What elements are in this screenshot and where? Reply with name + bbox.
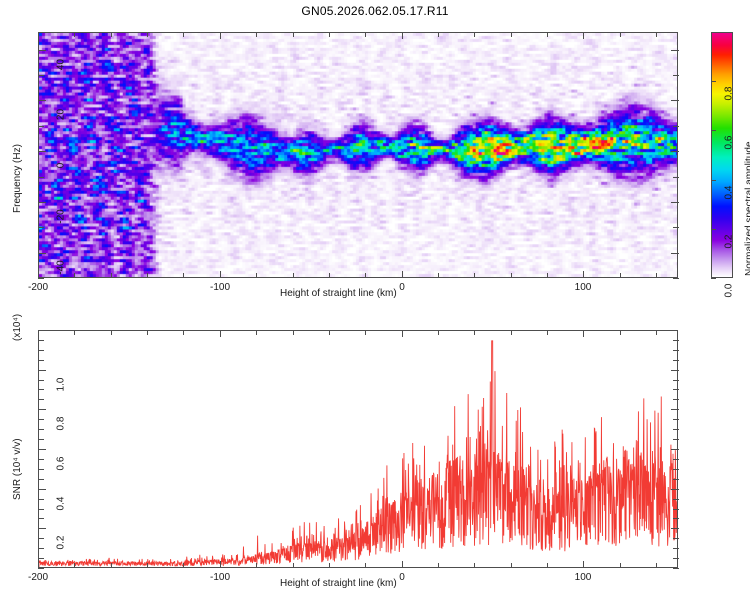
spectrogram-y-major-tick xyxy=(671,253,679,254)
spectrogram-x-minor-tick xyxy=(620,32,621,37)
spectrogram-x-minor-tick xyxy=(111,273,112,278)
snr-x-minor-tick xyxy=(74,563,75,568)
spectrogram-y-major-tick xyxy=(38,50,46,51)
snr-x-minor-tick xyxy=(147,563,148,568)
spectrogram-x-minor-tick xyxy=(474,273,475,278)
snr-x-minor-tick xyxy=(365,330,366,335)
snr-y-axis-label: SNR (10⁴ v/v) xyxy=(12,438,23,500)
snr-y-minor-tick xyxy=(38,538,44,539)
snr-y-major-tick xyxy=(671,370,679,371)
snr-y-minor-tick xyxy=(38,350,44,351)
snr-y-minor-tick xyxy=(38,419,44,420)
snr-y-major-tick xyxy=(671,528,679,529)
spectrogram-x-major-tick xyxy=(220,32,221,39)
snr-x-major-tick xyxy=(583,561,584,568)
colorbar-tick xyxy=(711,229,716,230)
snr-y-minor-tick xyxy=(673,340,679,341)
snr-x-minor-tick xyxy=(111,563,112,568)
spectrogram-y-major-tick xyxy=(38,202,46,203)
spectrogram-x-minor-tick xyxy=(74,273,75,278)
snr-y-minor-tick xyxy=(673,469,679,470)
snr-x-minor-tick xyxy=(74,330,75,335)
snr-y-minor-tick xyxy=(673,350,679,351)
snr-y-minor-tick xyxy=(38,518,44,519)
snr-x-minor-tick xyxy=(511,563,512,568)
spectrogram-image xyxy=(39,33,677,277)
snr-y-major-tick xyxy=(38,449,46,450)
snr-y-minor-tick xyxy=(673,419,679,420)
snr-y-tick-label: 1.0 xyxy=(56,370,67,400)
spectrogram-y-major-tick xyxy=(38,151,46,152)
spectrogram-x-minor-tick xyxy=(256,32,257,37)
snr-y-minor-tick xyxy=(38,558,44,559)
spectrogram-x-minor-tick xyxy=(511,273,512,278)
snr-y-minor-tick xyxy=(673,568,679,569)
spectrogram-x-minor-tick xyxy=(656,32,657,37)
spectrogram-x-major-tick xyxy=(402,271,403,278)
spectrogram-x-minor-tick xyxy=(656,273,657,278)
snr-x-minor-tick xyxy=(329,330,330,335)
snr-y-tick-label: 0.6 xyxy=(56,449,67,479)
spectrogram-y-minor-tick xyxy=(673,177,679,178)
snr-x-minor-tick xyxy=(547,330,548,335)
snr-x-minor-tick xyxy=(256,563,257,568)
spectrogram-x-minor-tick xyxy=(329,273,330,278)
spectrogram-x-minor-tick xyxy=(547,32,548,37)
snr-y-minor-tick xyxy=(38,479,44,480)
spectrogram-x-axis-label: Height of straight line (km) xyxy=(280,288,397,299)
snr-x-tick-label: 0 xyxy=(382,572,422,583)
snr-y-minor-tick xyxy=(38,469,44,470)
snr-y-minor-tick xyxy=(38,340,44,341)
snr-x-minor-tick xyxy=(656,563,657,568)
snr-x-major-tick xyxy=(220,561,221,568)
colorbar-tick-label: 0.2 xyxy=(724,229,735,255)
snr-y-minor-tick xyxy=(38,399,44,400)
snr-x-minor-tick xyxy=(365,563,366,568)
snr-y-minor-tick xyxy=(673,509,679,510)
spectrogram-x-tick-label: 0 xyxy=(382,282,422,293)
snr-trace xyxy=(39,331,677,567)
snr-x-minor-tick xyxy=(256,330,257,335)
colorbar-tick-label: 0.8 xyxy=(724,81,735,107)
snr-x-minor-tick xyxy=(329,563,330,568)
spectrogram-y-minor-tick xyxy=(38,278,44,279)
colorbar-tick xyxy=(711,81,716,82)
snr-y-minor-tick xyxy=(673,429,679,430)
snr-y-minor-tick xyxy=(38,548,44,549)
spectrogram-x-minor-tick xyxy=(183,273,184,278)
snr-x-axis-label: Height of straight line (km) xyxy=(280,578,397,589)
snr-y-minor-tick xyxy=(673,558,679,559)
snr-y-minor-tick xyxy=(38,380,44,381)
snr-x-minor-tick xyxy=(183,330,184,335)
snr-x-minor-tick xyxy=(183,563,184,568)
snr-y-minor-tick xyxy=(673,518,679,519)
snr-y-minor-tick xyxy=(673,439,679,440)
spectrogram-x-minor-tick xyxy=(256,273,257,278)
spectrogram-y-major-tick xyxy=(671,202,679,203)
snr-y-minor-tick xyxy=(673,389,679,390)
snr-x-minor-tick xyxy=(293,563,294,568)
snr-x-minor-tick xyxy=(438,563,439,568)
spectrogram-y-major-tick xyxy=(671,151,679,152)
snr-x-tick-label: -100 xyxy=(200,572,240,583)
colorbar-tick-label: 0.0 xyxy=(724,278,735,304)
spectrogram-x-minor-tick xyxy=(293,273,294,278)
snr-panel xyxy=(38,330,678,568)
spectrogram-y-axis-label: Frequency (Hz) xyxy=(12,144,23,213)
spectrogram-x-minor-tick xyxy=(474,32,475,37)
colorbar-tick-label: 0.4 xyxy=(724,180,735,206)
spectrogram-y-minor-tick xyxy=(38,177,44,178)
colorbar-tick xyxy=(711,180,716,181)
spectrogram-x-major-tick xyxy=(38,271,39,278)
spectrogram-x-minor-tick xyxy=(547,273,548,278)
snr-y-major-tick xyxy=(38,409,46,410)
colorbar-label: Normalized spectral amplitude xyxy=(744,141,750,276)
snr-x-major-tick xyxy=(402,561,403,568)
snr-x-tick-label: 100 xyxy=(563,572,603,583)
spectrogram-x-major-tick xyxy=(220,271,221,278)
snr-y-minor-tick xyxy=(673,548,679,549)
snr-x-minor-tick xyxy=(656,330,657,335)
snr-y-minor-tick xyxy=(38,459,44,460)
snr-x-minor-tick xyxy=(474,563,475,568)
snr-x-major-tick xyxy=(38,561,39,568)
snr-y-minor-tick xyxy=(38,509,44,510)
snr-y-minor-tick xyxy=(38,360,44,361)
spectrogram-x-major-tick xyxy=(38,32,39,39)
spectrogram-y-major-tick xyxy=(671,100,679,101)
snr-y-major-tick xyxy=(38,370,46,371)
spectrogram-x-minor-tick xyxy=(438,273,439,278)
spectrogram-x-minor-tick xyxy=(620,273,621,278)
spectrogram-x-minor-tick xyxy=(111,32,112,37)
snr-y-minor-tick xyxy=(673,538,679,539)
spectrogram-x-major-tick xyxy=(402,32,403,39)
snr-y-minor-tick xyxy=(673,499,679,500)
snr-line xyxy=(39,341,677,567)
snr-y-minor-tick xyxy=(673,380,679,381)
spectrogram-x-minor-tick xyxy=(438,32,439,37)
spectrogram-y-tick-label: -20 xyxy=(56,202,67,232)
spectrogram-y-tick-label: 20 xyxy=(56,100,67,130)
colorbar-tick-label: 0.6 xyxy=(724,130,735,156)
spectrogram-x-tick-label: -100 xyxy=(200,282,240,293)
snr-x-minor-tick xyxy=(620,330,621,335)
spectrogram-x-major-tick xyxy=(583,32,584,39)
spectrogram-x-minor-tick xyxy=(511,32,512,37)
spectrogram-y-minor-tick xyxy=(673,227,679,228)
spectrogram-y-minor-tick xyxy=(38,75,44,76)
colorbar-tick xyxy=(711,278,716,279)
spectrogram-y-major-tick xyxy=(38,253,46,254)
snr-y-major-tick xyxy=(671,449,679,450)
snr-y-tick-label: 0.2 xyxy=(56,528,67,558)
snr-y-tick-label: 0.4 xyxy=(56,489,67,519)
spectrogram-x-minor-tick xyxy=(74,32,75,37)
snr-x-major-tick xyxy=(402,330,403,337)
snr-y-minor-tick xyxy=(38,568,44,569)
snr-exponent-note: (x10⁴) xyxy=(12,314,23,341)
spectrogram-y-minor-tick xyxy=(673,278,679,279)
snr-x-major-tick xyxy=(583,330,584,337)
spectrogram-y-major-tick xyxy=(671,50,679,51)
snr-y-minor-tick xyxy=(673,399,679,400)
spectrogram-x-tick-label: 100 xyxy=(563,282,603,293)
snr-y-tick-label: 0.8 xyxy=(56,409,67,439)
spectrogram-x-tick-label: -200 xyxy=(18,282,58,293)
spectrogram-y-minor-tick xyxy=(38,227,44,228)
snr-x-minor-tick xyxy=(111,330,112,335)
spectrogram-y-tick-label: -40 xyxy=(56,253,67,283)
snr-y-minor-tick xyxy=(38,499,44,500)
snr-y-major-tick xyxy=(38,489,46,490)
spectrogram-panel xyxy=(38,32,678,278)
snr-y-minor-tick xyxy=(673,479,679,480)
spectrogram-y-major-tick xyxy=(38,100,46,101)
snr-y-minor-tick xyxy=(673,459,679,460)
snr-x-major-tick xyxy=(38,330,39,337)
spectrogram-x-minor-tick xyxy=(365,32,366,37)
snr-x-minor-tick xyxy=(438,330,439,335)
spectrogram-y-minor-tick xyxy=(38,126,44,127)
spectrogram-x-major-tick xyxy=(583,271,584,278)
spectrogram-y-minor-tick xyxy=(673,126,679,127)
spectrogram-y-minor-tick xyxy=(673,75,679,76)
spectrogram-x-minor-tick xyxy=(293,32,294,37)
snr-x-tick-label: -200 xyxy=(18,572,58,583)
snr-y-minor-tick xyxy=(38,439,44,440)
snr-x-minor-tick xyxy=(293,330,294,335)
spectrogram-y-tick-label: 0 xyxy=(56,151,67,181)
spectrogram-y-tick-label: 40 xyxy=(56,50,67,80)
spectrogram-x-minor-tick xyxy=(147,273,148,278)
snr-x-minor-tick xyxy=(620,563,621,568)
snr-y-minor-tick xyxy=(38,429,44,430)
spectrogram-x-minor-tick xyxy=(329,32,330,37)
figure-root: GN05.2026.062.05.17.R11 Frequency (Hz) H… xyxy=(0,0,750,600)
spectrogram-x-minor-tick xyxy=(365,273,366,278)
spectrogram-x-minor-tick xyxy=(147,32,148,37)
snr-x-minor-tick xyxy=(147,330,148,335)
snr-y-major-tick xyxy=(671,489,679,490)
snr-y-minor-tick xyxy=(673,360,679,361)
snr-x-minor-tick xyxy=(547,563,548,568)
snr-y-minor-tick xyxy=(38,389,44,390)
snr-x-minor-tick xyxy=(511,330,512,335)
page-title: GN05.2026.062.05.17.R11 xyxy=(0,4,750,18)
snr-x-minor-tick xyxy=(474,330,475,335)
snr-x-major-tick xyxy=(220,330,221,337)
snr-y-major-tick xyxy=(671,409,679,410)
snr-y-major-tick xyxy=(38,528,46,529)
colorbar-tick xyxy=(711,130,716,131)
spectrogram-x-minor-tick xyxy=(183,32,184,37)
